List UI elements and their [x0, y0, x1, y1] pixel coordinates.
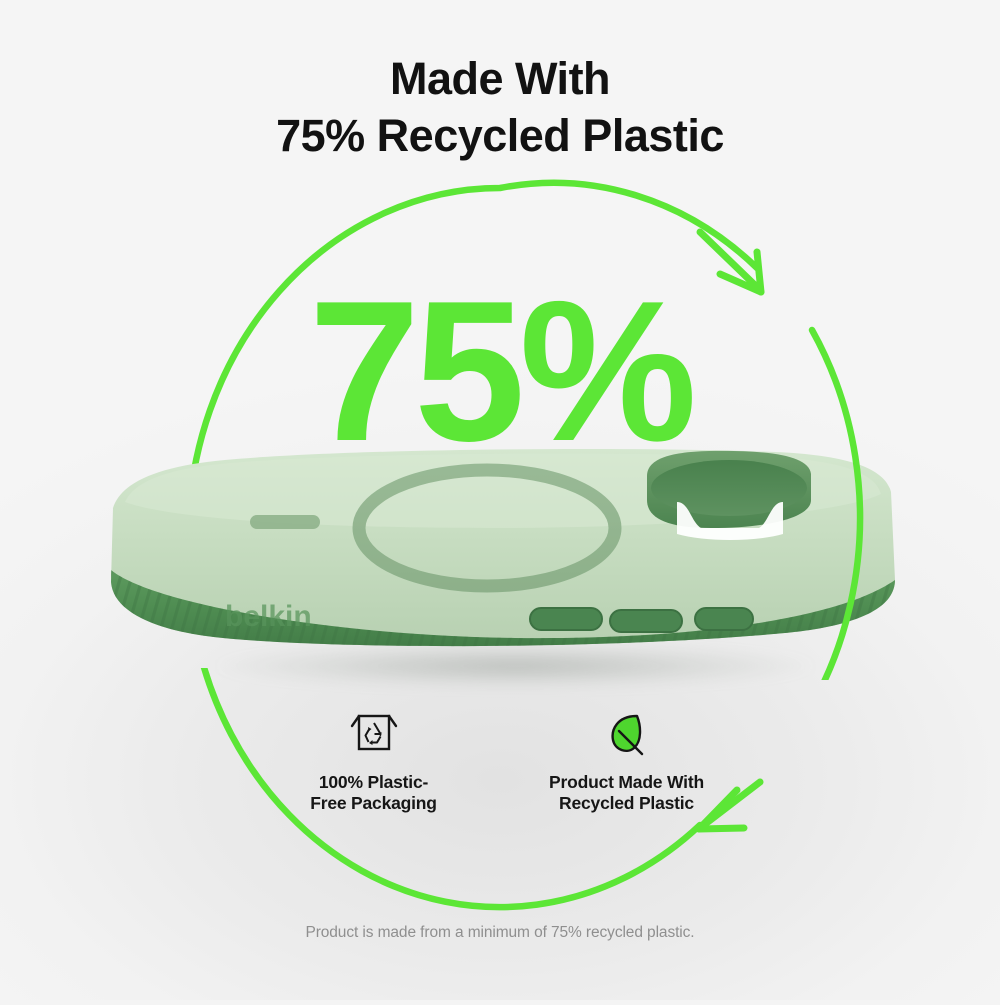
cycle-arrow-front-layer [0, 0, 1000, 1000]
badge-caption-line-2: Recycled Plastic [559, 793, 694, 813]
badge-caption-line-2: Free Packaging [310, 793, 437, 813]
badge-caption-line-1: 100% Plastic- [319, 772, 428, 792]
leaf-icon [539, 706, 714, 764]
badge-plastic-free-packaging: 100% Plastic- Free Packaging [286, 706, 461, 815]
recycle-box-icon [286, 706, 461, 764]
disclaimer-text: Product is made from a minimum of 75% re… [0, 924, 1000, 942]
product-marketing-canvas: Made With 75% Recycled Plastic 75% [0, 0, 1000, 1000]
eco-badge-list: 100% Plastic- Free Packaging Product Mad… [0, 706, 1000, 815]
badge-caption-line-1: Product Made With [549, 772, 704, 792]
badge-recycled-plastic: Product Made With Recycled Plastic [539, 706, 714, 815]
badge-caption: Product Made With Recycled Plastic [539, 772, 714, 815]
badge-caption: 100% Plastic- Free Packaging [286, 772, 461, 815]
recycling-cycle-arrow-lower-icon [0, 0, 1000, 1000]
